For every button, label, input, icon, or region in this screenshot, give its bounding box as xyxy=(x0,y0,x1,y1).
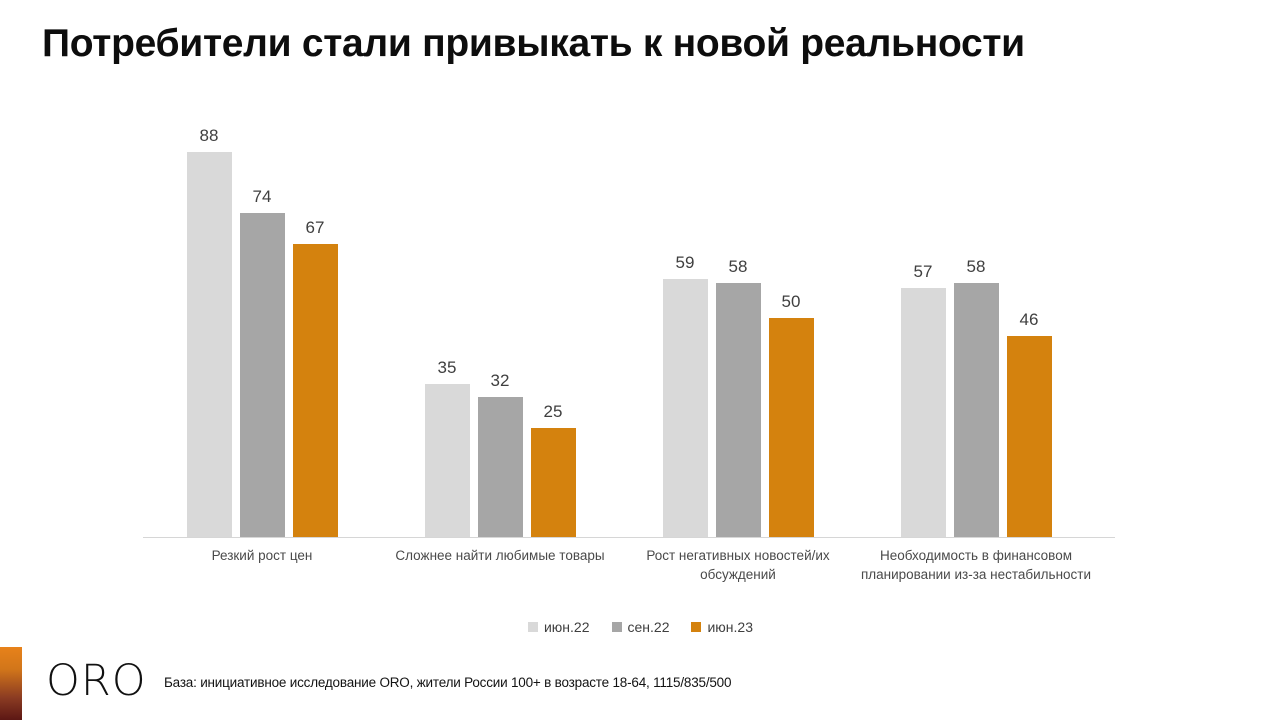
bar-group: 595850 xyxy=(619,120,857,537)
chart-legend: июн.22сен.22июн.23 xyxy=(0,620,1281,634)
bar[interactable] xyxy=(716,283,761,537)
category-label: Рост негативных новостей/их обсуждений xyxy=(619,546,857,584)
bar-value-label: 32 xyxy=(478,372,523,389)
legend-item[interactable]: июн.23 xyxy=(691,620,753,634)
bar[interactable] xyxy=(240,213,285,537)
bar-chart: 887467353225595850575846 xyxy=(143,120,1115,538)
legend-label: июн.23 xyxy=(707,620,753,634)
bar-column[interactable]: 74 xyxy=(240,120,285,537)
bar-value-label: 46 xyxy=(1007,311,1052,328)
bar-value-label: 67 xyxy=(293,219,338,236)
bar-value-label: 35 xyxy=(425,359,470,376)
bar-column[interactable]: 32 xyxy=(478,120,523,537)
bar-column[interactable]: 46 xyxy=(1007,120,1052,537)
bar-column[interactable]: 88 xyxy=(187,120,232,537)
bar-group: 353225 xyxy=(381,120,619,537)
legend-label: сен.22 xyxy=(628,620,670,634)
bar-group: 575846 xyxy=(857,120,1095,537)
bar[interactable] xyxy=(293,244,338,537)
category-axis-labels: Резкий рост ценСложнее найти любимые тов… xyxy=(143,546,1115,616)
category-label: Необходимость в финансовом планировании … xyxy=(857,546,1095,584)
footer-source-note: База: инициативное исследование ORO, жит… xyxy=(164,675,731,690)
bar[interactable] xyxy=(425,384,470,537)
legend-swatch-icon xyxy=(691,622,701,632)
legend-item[interactable]: сен.22 xyxy=(612,620,670,634)
bar-column[interactable]: 58 xyxy=(954,120,999,537)
bar-value-label: 25 xyxy=(531,403,576,420)
legend-swatch-icon xyxy=(612,622,622,632)
page-title: Потребители стали привыкать к новой реал… xyxy=(42,22,1025,66)
bar[interactable] xyxy=(1007,336,1052,537)
oro-logo: ORO xyxy=(46,660,147,703)
bar[interactable] xyxy=(954,283,999,537)
bar[interactable] xyxy=(901,288,946,537)
bar-value-label: 88 xyxy=(187,127,232,144)
legend-label: июн.22 xyxy=(544,620,590,634)
bar-value-label: 58 xyxy=(716,258,761,275)
bar-value-label: 57 xyxy=(901,263,946,280)
bar-value-label: 50 xyxy=(769,293,814,310)
bar-column[interactable]: 57 xyxy=(901,120,946,537)
category-label: Резкий рост цен xyxy=(143,546,381,565)
bar-column[interactable]: 58 xyxy=(716,120,761,537)
bar-column[interactable]: 50 xyxy=(769,120,814,537)
brand-gradient-bar xyxy=(0,647,22,720)
bar-column[interactable]: 25 xyxy=(531,120,576,537)
bar-column[interactable]: 59 xyxy=(663,120,708,537)
bar[interactable] xyxy=(531,428,576,537)
bar[interactable] xyxy=(769,318,814,537)
bar[interactable] xyxy=(187,152,232,537)
bar[interactable] xyxy=(663,279,708,537)
bar-value-label: 59 xyxy=(663,254,708,271)
bar-column[interactable]: 67 xyxy=(293,120,338,537)
bar-group: 887467 xyxy=(143,120,381,537)
bar-column[interactable]: 35 xyxy=(425,120,470,537)
bar-value-label: 58 xyxy=(954,258,999,275)
legend-item[interactable]: июн.22 xyxy=(528,620,590,634)
bar[interactable] xyxy=(478,397,523,537)
bar-value-label: 74 xyxy=(240,188,285,205)
legend-swatch-icon xyxy=(528,622,538,632)
x-axis-line xyxy=(143,537,1115,538)
category-label: Сложнее найти любимые товары xyxy=(381,546,619,565)
